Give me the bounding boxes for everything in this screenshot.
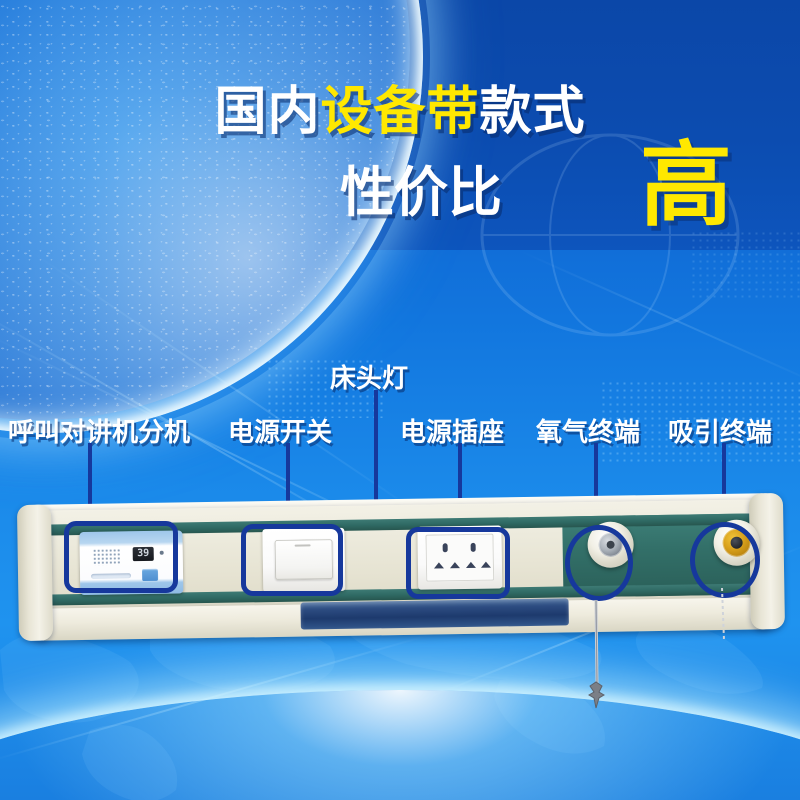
panel-end-cap-left <box>17 504 53 641</box>
highlight-ellipse-suction <box>690 522 760 598</box>
highlight-ellipse-oxygen <box>565 525 633 601</box>
headline-part-3: 款式 <box>480 83 586 141</box>
image-canvas: 国内设备带款式 性价比 高 呼叫对讲机分机 电源开关 床头灯 电源插座 氧气终端… <box>0 0 800 800</box>
headline-part-2-highlight: 设备带 <box>320 83 479 141</box>
highlight-box-power-switch <box>241 524 343 596</box>
callout-label-suction-outlet: 吸引终端 <box>668 412 772 449</box>
headline-part-1: 国内 <box>214 83 320 141</box>
callout-label-intercom: 呼叫对讲机分机 <box>8 412 190 449</box>
callout-label-oxygen-outlet: 氧气终端 <box>536 412 640 449</box>
highlight-box-power-socket <box>406 527 510 599</box>
callout-label-power-switch: 电源开关 <box>228 412 332 449</box>
callout-label-bed-lamp: 床头灯 <box>330 358 408 395</box>
bed-lamp-light-strip[interactable] <box>301 598 569 629</box>
headline-line-1: 国内设备带款式 <box>0 86 800 138</box>
callout-label-power-socket: 电源插座 <box>400 412 504 449</box>
headline-line-2: 性价比 <box>340 166 502 220</box>
highlight-box-intercom <box>64 521 178 593</box>
headline-emphasis-word: 高 <box>640 140 732 232</box>
